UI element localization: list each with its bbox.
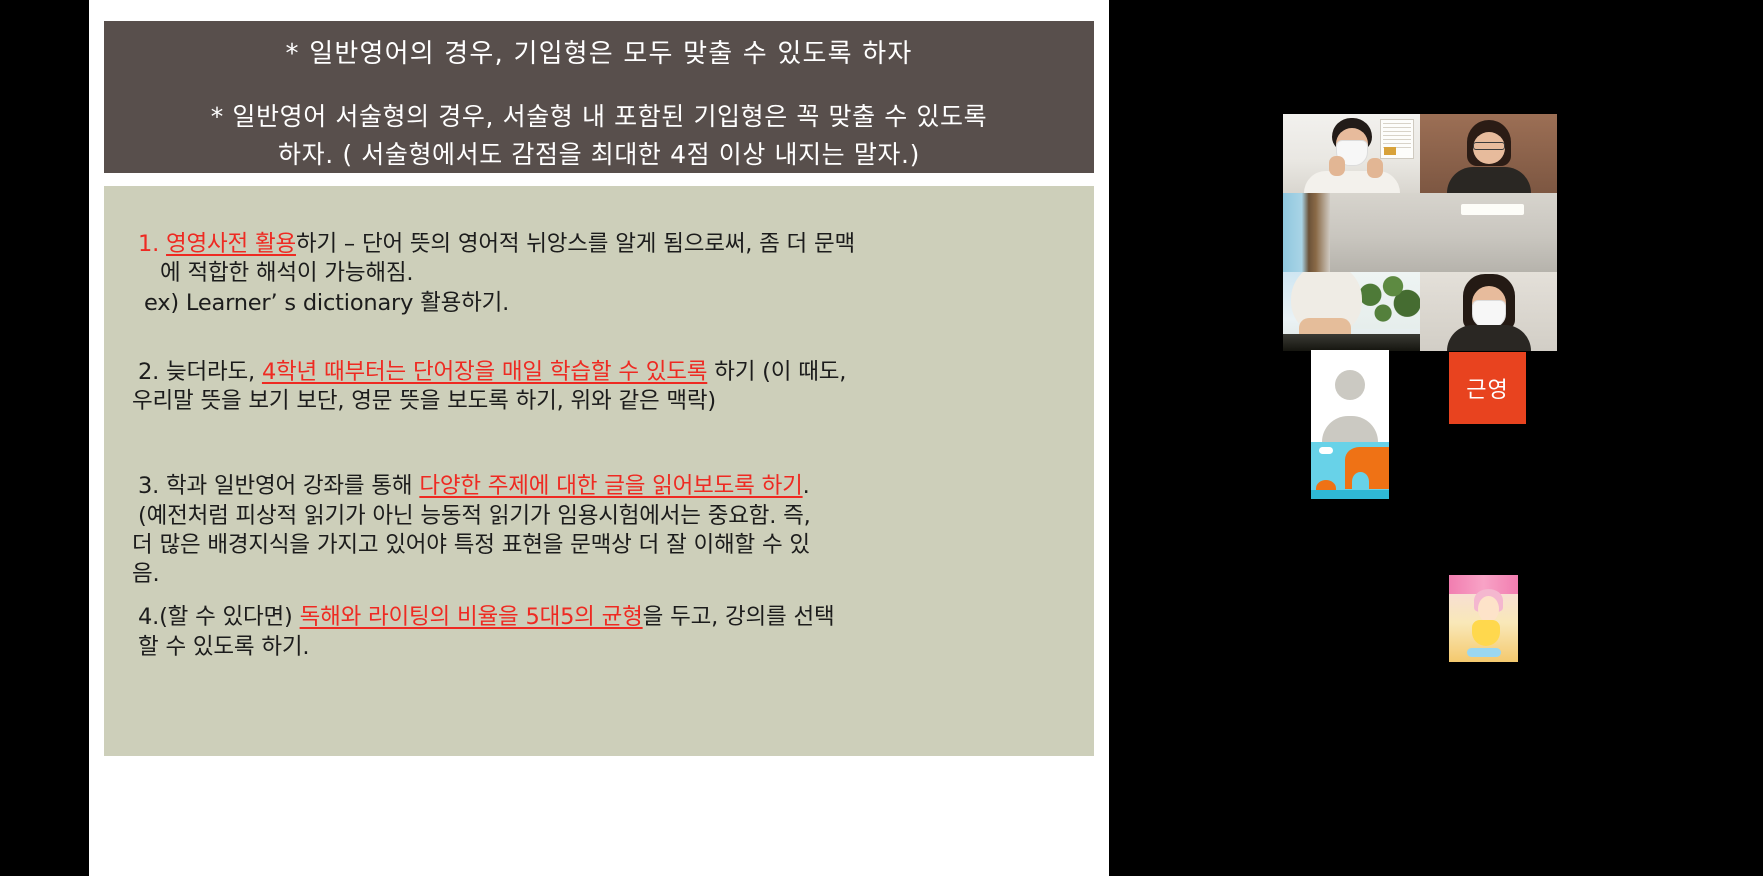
cartoon-base-icon (1467, 648, 1502, 657)
cartoon-body-icon (1472, 620, 1500, 646)
list-item-1-example: ex) Learner’ s dictionary 활용하기. (132, 289, 1066, 318)
item-1-highlight: 영영사전 활용 (166, 231, 296, 257)
tile-1-hand-right (1367, 158, 1383, 178)
slide-canvas: * 일반영어의 경우, 기입형은 모두 맞출 수 있도록 하자 * 일반영어 서… (89, 0, 1109, 876)
item-4-lead: 4.(할 수 있다면) (138, 604, 300, 630)
banner-line-3: 하자. ( 서술형에서도 감점을 최대한 4점 이상 내지는 말자.) (122, 136, 1076, 174)
list-item-2-line-2: 우리말 뜻을 보기 보단, 영문 뜻을 보도록 하기, 위와 같은 맥락) (132, 387, 1066, 416)
list-item-4-line-2: 할 수 있도록 하기. (132, 633, 1066, 662)
screen-share-window: * 일반영어의 경우, 기입형은 모두 맞출 수 있도록 하자 * 일반영어 서… (0, 0, 1763, 876)
tile-1-hand-left (1329, 156, 1345, 176)
rock-arch-hole (1352, 472, 1369, 491)
sea-icon (1311, 490, 1389, 499)
participant-tile-4[interactable] (1420, 193, 1557, 272)
list-item-4-line-1: 4.(할 수 있다면) 독해와 라이팅의 비율을 5대5의 균형을 두고, 강의… (132, 603, 1066, 632)
cartoon-face-icon (1478, 596, 1499, 622)
participant-filmstrip[interactable]: 근영 (1109, 0, 1763, 876)
gap-after-item-2 (132, 416, 1066, 472)
shared-slide-stage: * 일반영어의 경우, 기입형은 모두 맞출 수 있도록 하자 * 일반영어 서… (89, 0, 1109, 876)
beach-illustration (1311, 442, 1389, 499)
tile-6-shoulders (1447, 325, 1531, 351)
item-2-rest: 하기 (이 때도, (707, 359, 846, 385)
item-1-number: 1. (138, 231, 159, 257)
participant-name-label: 근영 (1466, 372, 1508, 404)
participant-tile-5[interactable] (1283, 272, 1420, 351)
item-1-rest: 하기 – 단어 뜻의 영어적 뉘앙스를 알게 됨으로써, 좀 더 문맥 (296, 231, 855, 257)
cartoon-thumbnail (1449, 575, 1518, 662)
list-item-3-line-2: (예전처럼 피상적 읽기가 아닌 능동적 읽기가 임용시험에서는 중요함. 즉, (132, 502, 1066, 531)
list-item-1-line-1: 1. 영영사전 활용하기 – 단어 뜻의 영어적 뉘앙스를 알게 됨으로써, 좀… (132, 230, 1066, 259)
item-4-rest: 을 두고, 강의를 선택 (643, 604, 835, 630)
banner-line-1: * 일반영어의 경우, 기입형은 모두 맞출 수 있도록 하자 (122, 37, 1076, 72)
gap-after-item-3 (132, 589, 1066, 603)
banner-spacer (122, 72, 1076, 98)
ceiling-light-icon (1461, 204, 1524, 215)
item-1-space (159, 231, 166, 257)
participant-tile-1[interactable] (1283, 114, 1420, 193)
avatar-body-icon (1322, 416, 1378, 442)
banner-line-2: * 일반영어 서술형의 경우, 서술형 내 포함된 기입형은 꼭 맞출 수 있도… (122, 98, 1076, 136)
item-2-lead: 2. 늦더라도, (138, 359, 262, 385)
participant-tile-6[interactable] (1420, 272, 1557, 351)
participant-name-badge: 근영 (1449, 352, 1526, 424)
slide-body-panel: 1. 영영사전 활용하기 – 단어 뜻의 영어적 뉘앙스를 알게 됨으로써, 좀… (104, 186, 1094, 756)
tile-5-shadow (1283, 334, 1420, 351)
participant-tile-7[interactable] (1311, 350, 1389, 499)
list-item-2-line-1: 2. 늦더라도, 4학년 때부터는 단어장을 매일 학습할 수 있도록 하기 (… (132, 358, 1066, 387)
calendar-icon (1380, 119, 1414, 159)
item-3-lead: 3. 학과 일반영어 강좌를 통해 (138, 473, 419, 499)
gap-after-item-1 (132, 318, 1066, 358)
participant-tile-2[interactable] (1420, 114, 1557, 193)
list-item-3-line-3: 더 많은 배경지식을 가지고 있어야 특정 표현을 문맥상 더 잘 이해할 수 … (132, 531, 1066, 560)
window-icon (1283, 193, 1330, 272)
list-item-3-line-4: 음. (132, 560, 1066, 589)
list-item-3-line-1: 3. 학과 일반영어 강좌를 통해 다양한 주제에 대한 글을 읽어보도록 하기… (132, 472, 1066, 501)
participant-tile-3[interactable] (1283, 193, 1420, 272)
participant-tile-9[interactable] (1449, 575, 1518, 662)
item-4-highlight: 독해와 라이팅의 비율을 5대5의 균형 (300, 604, 643, 630)
list-item-1-line-2: 에 적합한 해석이 가능해짐. (132, 259, 1066, 288)
tile-1-shoulders (1304, 171, 1400, 193)
participant-tile-8[interactable]: 근영 (1449, 352, 1526, 424)
slide-banner: * 일반영어의 경우, 기입형은 모두 맞출 수 있도록 하자 * 일반영어 서… (104, 21, 1094, 173)
item-3-rest: . (803, 473, 810, 499)
item-2-highlight: 4학년 때부터는 단어장을 매일 학습할 수 있도록 (262, 359, 707, 385)
glasses-icon (1473, 142, 1505, 150)
avatar-panel (1311, 350, 1389, 442)
face-mask-icon (1472, 300, 1506, 328)
avatar-icon (1335, 370, 1365, 400)
tile-2-shoulders (1447, 167, 1531, 193)
item-3-highlight: 다양한 주제에 대한 글을 읽어보도록 하기 (419, 473, 802, 499)
cloud-icon (1319, 447, 1333, 454)
